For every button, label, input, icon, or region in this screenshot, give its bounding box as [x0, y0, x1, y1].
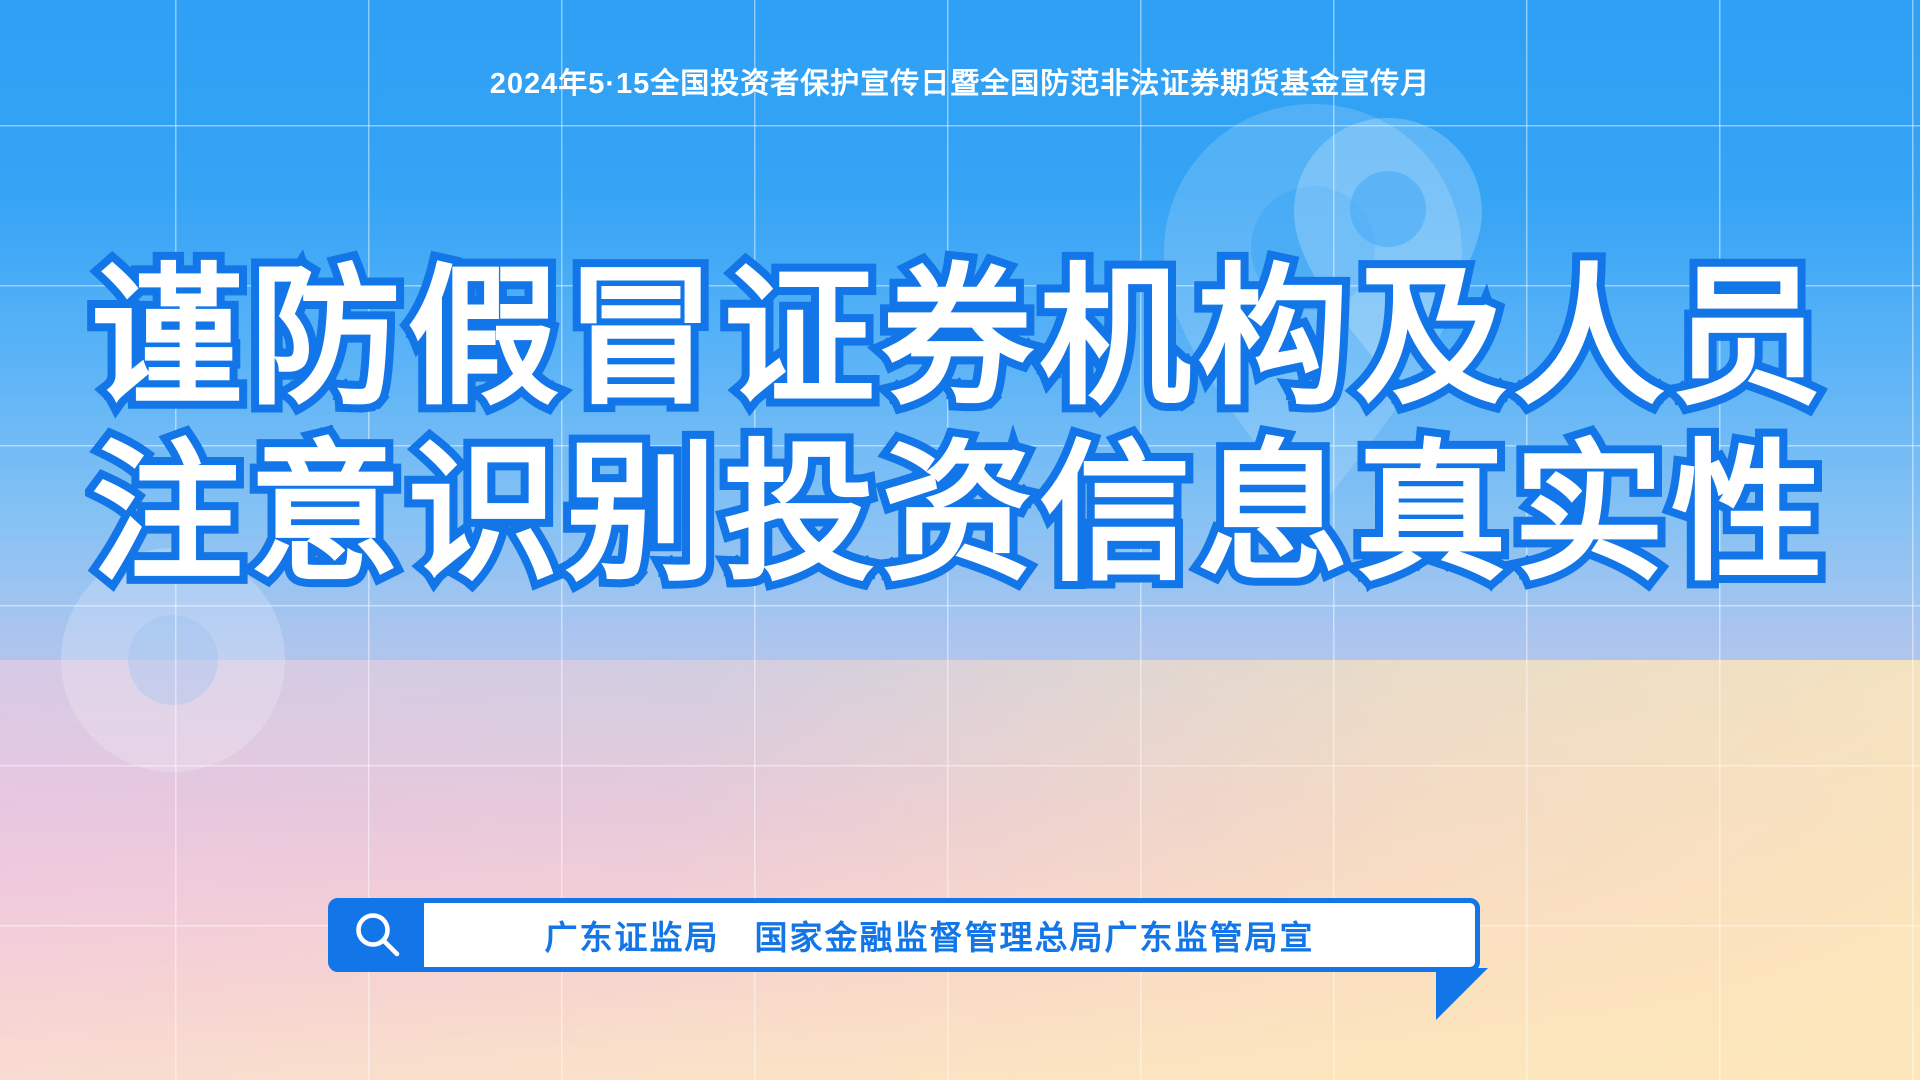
headline-line-1: 谨防假冒证券机构及人员 [0, 250, 1920, 426]
page-title: 2024年5·15全国投资者保护宣传日暨全国防范非法证券期货基金宣传月 [0, 60, 1920, 102]
footer-bar: 广东证监局 国家金融监督管理总局广东监管局宣 [328, 898, 1480, 972]
headline-line-2: 注意识别投资信息真实性 [0, 426, 1920, 602]
speech-bubble-tail [1436, 968, 1488, 1020]
headline-block: 谨防假冒证券机构及人员 注意识别投资信息真实性 [0, 250, 1920, 603]
bottom-warm-wash [0, 660, 1920, 1080]
footer-authority-text: 广东证监局 国家金融监督管理总局广东监管局宣 [424, 911, 1475, 959]
footer-speech-bubble: 广东证监局 国家金融监督管理总局广东监管局宣 [328, 898, 1480, 972]
poster-canvas: 2024年5·15全国投资者保护宣传日暨全国防范非法证券期货基金宣传月 谨防假冒… [0, 0, 1920, 1080]
search-icon[interactable] [332, 903, 424, 967]
